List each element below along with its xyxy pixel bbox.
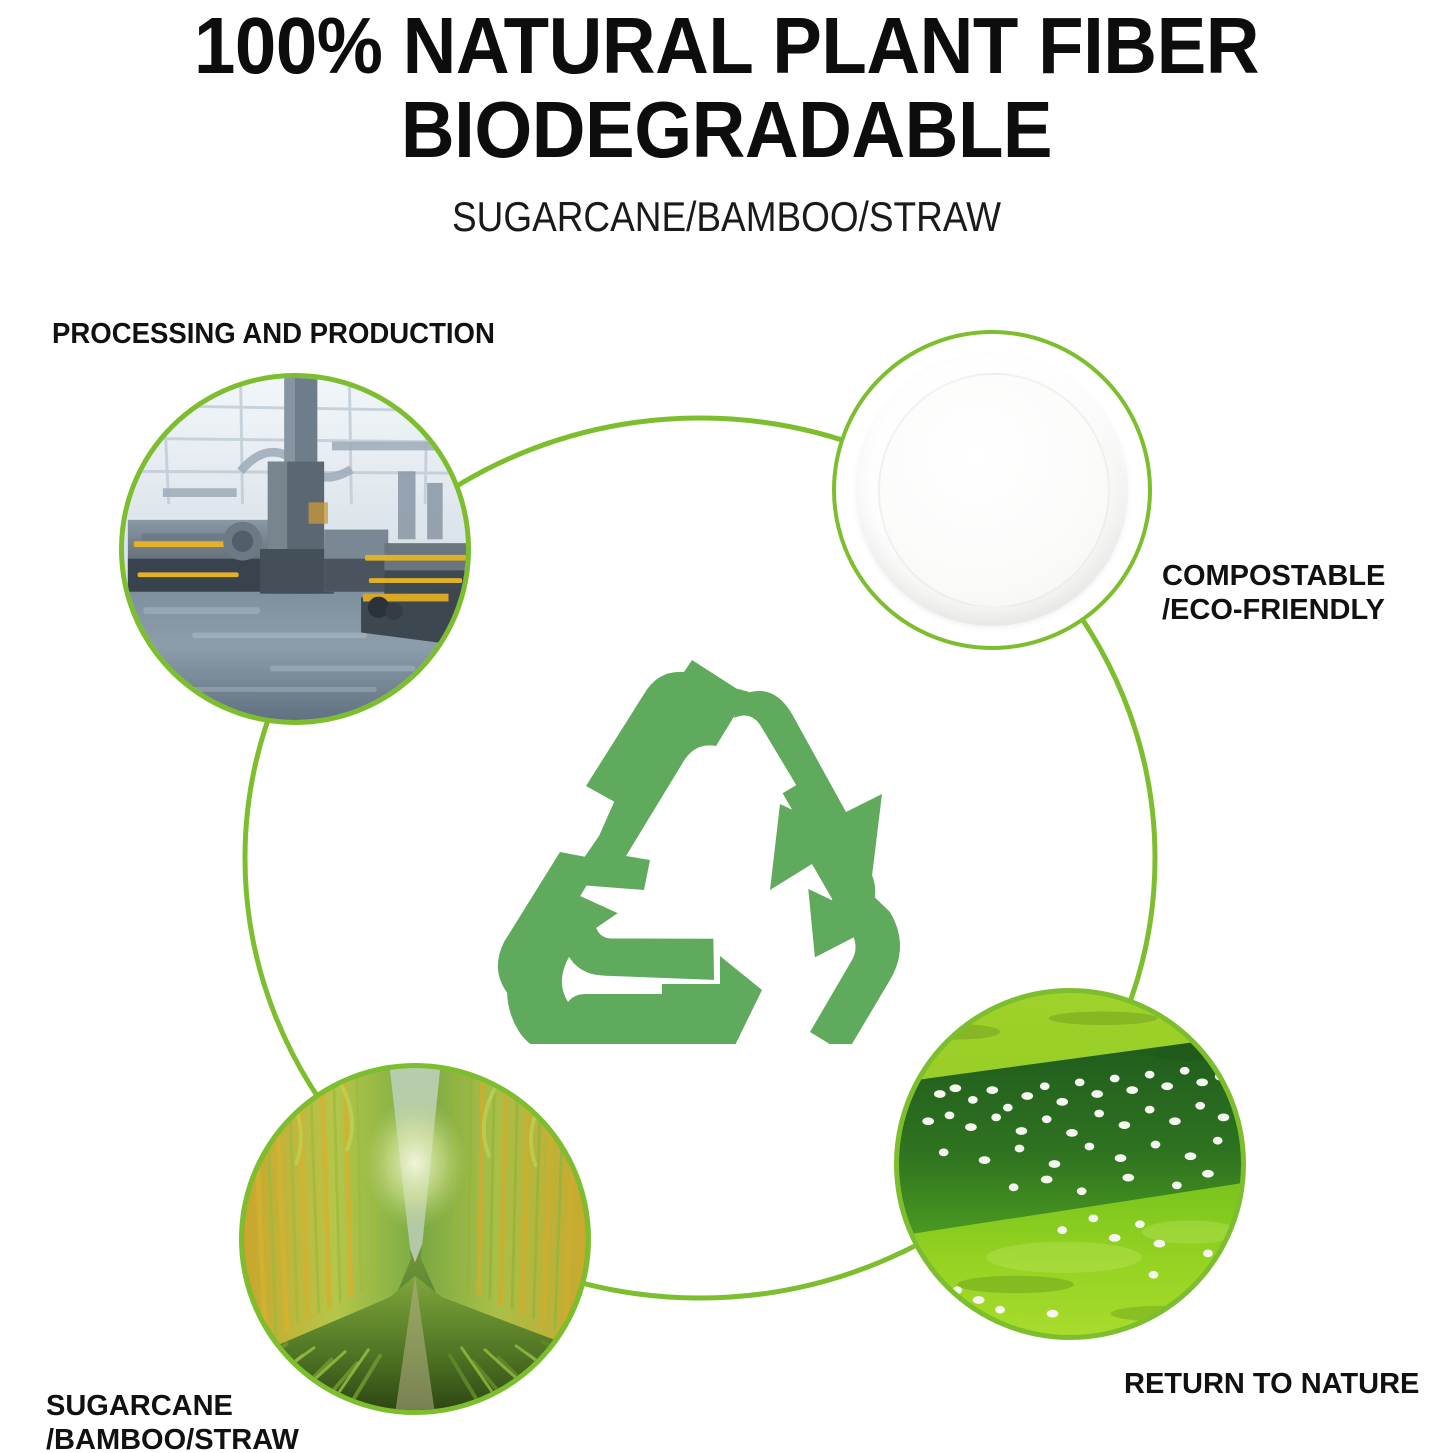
plate-disc	[856, 354, 1128, 626]
plate-rim	[878, 373, 1110, 608]
subtitle-materials: SUGARCANE/BAMBOO/STRAW	[87, 196, 1366, 238]
label-compostable-eco-friendly: COMPOSTABLE /ECO-FRIENDLY	[1162, 560, 1385, 627]
headline-block: 100% NATURAL PLANT FIBER BIODEGRADABLE S…	[0, 0, 1453, 238]
node-processing-image	[119, 373, 471, 725]
node-compostable-plate	[832, 330, 1152, 650]
infographic-poster: 100% NATURAL PLANT FIBER BIODEGRADABLE S…	[0, 0, 1453, 1453]
label-return-to-nature: RETURN TO NATURE	[1124, 1368, 1419, 1402]
title-line-1: 100% NATURAL PLANT FIBER	[51, 4, 1402, 88]
node-sugarcane-image	[239, 1063, 591, 1415]
recycle-icon	[478, 648, 934, 1044]
label-processing-and-production: PROCESSING AND PRODUCTION	[52, 318, 495, 352]
title-line-2: BIODEGRADABLE	[51, 88, 1402, 172]
node-return-to-nature-image	[894, 988, 1246, 1340]
label-sugarcane-bamboo-straw: SUGARCANE /BAMBOO/STRAW	[46, 1390, 299, 1453]
